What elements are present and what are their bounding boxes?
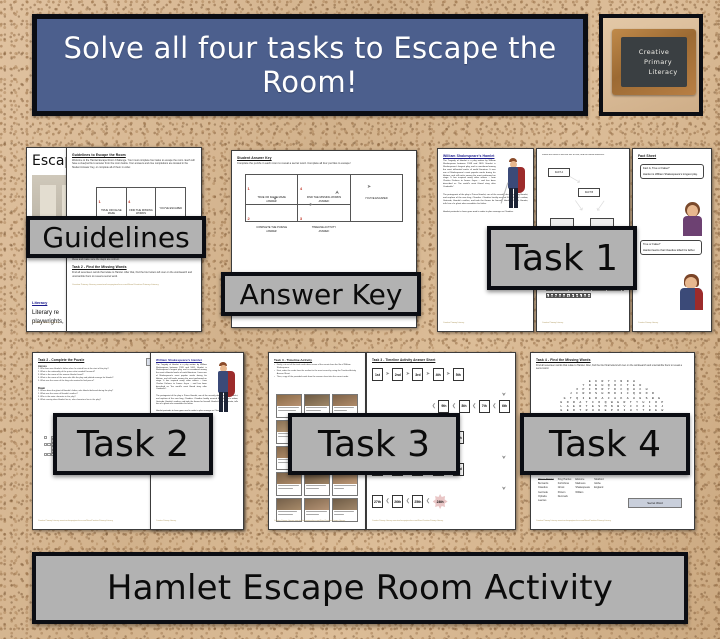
word-column: Stratford Globe England — [594, 478, 604, 502]
final-cell-label: YOU'VE ESCAPED — [365, 197, 388, 200]
maze-node-fact-b[interactable]: FACT B — [578, 188, 600, 197]
arrow-left-icon: ❮ — [472, 404, 476, 409]
maze-arrow-icon: ⟶ — [570, 197, 586, 214]
answer-key-cell[interactable]: 4 FIND THE MISSING WORDS ANSWER: — [298, 175, 349, 205]
logo-line-1: Creative — [621, 47, 687, 57]
cell-number: 2 — [248, 216, 250, 221]
task4-intro: Find all seventeen words that relate to … — [536, 364, 689, 371]
maze-node-fact-a[interactable]: FACT A — [548, 168, 570, 177]
word: Prince Hamlet — [538, 478, 554, 481]
arrow-right-icon: ➤ — [406, 372, 410, 377]
header-title: Solve all four tasks to Escape the Room! — [37, 31, 583, 99]
bubble-question: Fact A, True or False? — [643, 167, 701, 171]
cell-answer: ANSWER: — [248, 201, 296, 203]
timeline-box[interactable]: 1st — [372, 368, 383, 381]
label-task1-text: Task 1 — [506, 238, 618, 279]
maze-arrow-icon: ⟶ — [592, 197, 608, 214]
timeline-box[interactable]: 7th — [479, 400, 490, 413]
timeline-box[interactable]: 3rd — [412, 368, 423, 381]
logo-line-2: Primary — [617, 57, 691, 67]
word: William — [575, 491, 590, 494]
arrow-left-icon: ❮ — [492, 404, 496, 409]
arrow-left-icon: ❮ — [406, 499, 410, 504]
footer-banner: Hamlet Escape Room Activity — [32, 552, 688, 624]
word: Shakespeare — [575, 486, 590, 489]
word: Madness — [575, 482, 590, 485]
word: Ghost — [558, 486, 572, 489]
word-column: King Hamlet Fortinbras Ghost Poison Denm… — [558, 478, 572, 502]
task2-footer: Creative Primary Literacy www.teacherspa… — [38, 520, 113, 522]
timeline-box[interactable]: 9th — [438, 400, 449, 413]
timeline-card[interactable] — [332, 472, 358, 496]
cover-footer: © Creative Primary Literacy — [32, 322, 59, 324]
timeline-card[interactable] — [332, 498, 358, 522]
arrow-up-icon: ⮝ — [335, 190, 339, 196]
timeline-card[interactable] — [304, 472, 330, 496]
cell-task: COMPLETE THE PUZZLE — [248, 226, 296, 229]
task4-title: Task 4 - Find the Missing Words — [536, 358, 689, 362]
person-illustration-male — [679, 274, 703, 310]
label-answer-key: Answer Key — [221, 272, 421, 316]
word: Gertrude — [538, 491, 554, 494]
fact-bubble-1: Fact A, True or False? Hamlet is William… — [640, 164, 704, 179]
timeline-row: 27th❮ 26th❮ 25th❮ 24th — [372, 494, 510, 509]
label-guidelines: Guidelines — [26, 216, 206, 258]
timeline-card[interactable] — [276, 498, 302, 522]
label-task3: Task 3 — [288, 413, 460, 475]
label-task1: Task 1 — [487, 226, 637, 290]
task2-across-clues: 1. Who from was Hamlet's father when he … — [38, 368, 154, 383]
timeline-box[interactable]: 25th — [412, 495, 423, 508]
timeline-box[interactable]: 5th — [453, 368, 464, 381]
label-task2: Task 2 — [53, 413, 213, 475]
cell-answer: ANSWER: — [300, 201, 348, 203]
guidelines-section2-text: Find all seventeen words that relate to … — [72, 271, 196, 278]
arrow-right-icon: ➤ — [426, 372, 430, 377]
word: Denmark — [558, 495, 572, 498]
label-task4: Task 4 — [520, 413, 690, 475]
instruction: Then, copy all the provided cards from t… — [277, 376, 349, 379]
guidelines-title: Guidelines to Escape the Room — [72, 153, 196, 157]
task2-info-footer: Creative Primary Literacy — [156, 520, 176, 522]
arrow-down-icon: ⮟ — [502, 455, 506, 461]
guidelines-footer: Creative Primary Literacy www.teacherspa… — [72, 284, 196, 286]
answer-letter: Y — [587, 293, 591, 298]
cell-number: 4 — [300, 186, 302, 191]
factsheet-footer: Creative Primary Literacy — [638, 322, 658, 324]
cell-answer: ANSWER: — [248, 231, 296, 233]
word-column: Elsinore Madness Shakespeare William — [575, 478, 590, 502]
word-column: Prince Hamlet Bernardo Claudius Gertrude… — [538, 478, 554, 502]
arrow-down-icon: ⮟ — [502, 392, 506, 398]
label-task3-text: Task 3 — [318, 424, 430, 465]
answer-key-intro: Complete the puzzle in each room to reve… — [237, 162, 411, 166]
task1-info-footer: Creative Primary Literacy — [443, 322, 464, 324]
arrow-down-icon: ⮟ — [502, 486, 506, 492]
timeline-row: ❮ 9th❮ 8th❮ 7th❮ 6th — [372, 400, 510, 413]
cell-number: 3 — [300, 216, 302, 221]
word: Globe — [594, 482, 604, 485]
timeline-box[interactable]: 4th — [433, 368, 444, 381]
word: Laertes — [538, 499, 554, 502]
footer-title: Hamlet Escape Room Activity — [107, 568, 613, 608]
cell-task: FIND THE MISSING WORDS — [300, 196, 348, 199]
cell-task: TIMELINE ACTIVITY — [300, 226, 348, 229]
word: Ophelia — [538, 495, 554, 498]
task3-answer-footer: Creative Primary Literacy www.teacherspa… — [372, 520, 443, 522]
arrow-left-icon: ❮ — [452, 404, 456, 409]
fact-bubble-2: True or False? Hamlet learns that Claudi… — [640, 240, 702, 255]
task2-info-paragraph: The Tragedy of Hamlet is a play written … — [156, 364, 207, 391]
timeline-box[interactable]: 2nd — [392, 368, 403, 381]
answer-key-cell[interactable]: 2 COMPLETE THE PUZZLE ANSWER: — [246, 205, 297, 234]
word: Elsinore — [575, 478, 590, 481]
answer-key-cell[interactable]: 3 TIMELINE ACTIVITY ANSWER: — [298, 205, 349, 234]
arrow-left-icon: ❮ — [432, 404, 436, 409]
arrow-right-icon: ➤ — [367, 184, 371, 190]
answer-key-column-2: 4 FIND THE MISSING WORDS ANSWER: 3 TIMEL… — [298, 175, 350, 221]
timeline-final-star[interactable]: 24th — [433, 494, 448, 509]
timeline-card[interactable] — [276, 472, 302, 496]
bubble-statement: Hamlet learns that Claudius killed his f… — [643, 249, 699, 253]
task1-paragraph-1: The Tragedy of Hamlet is a play written … — [443, 160, 496, 189]
guidelines-section2-title: Task 2 - Find the Missing Words — [72, 265, 196, 269]
word: King Hamlet — [558, 478, 572, 481]
answer-key-column-3: YOU'VE ESCAPED — [351, 175, 402, 221]
answer-key-title: Student Answer Key — [237, 156, 411, 160]
hamlet-illustration — [210, 362, 236, 418]
header-banner: Solve all four tasks to Escape the Room! — [32, 14, 588, 116]
word: Bernardo — [538, 482, 554, 485]
word: England — [594, 486, 604, 489]
arrow-right-icon: ➤ — [309, 202, 313, 208]
word: Fortinbras — [558, 482, 572, 485]
task4-footer: Creative Primary Literacy www.teacherspa… — [536, 520, 611, 522]
cell-answer: ANSWER: — [300, 231, 348, 233]
answer-key-grid: 1 TRUE OR FALSE MAZE ANSWER: 2 COMPLETE … — [245, 174, 403, 222]
hamlet-illustration — [500, 158, 526, 214]
task3-cards-footer: Creative Primary Literacy www.teacherspa… — [274, 520, 345, 522]
person-illustration-female — [681, 202, 703, 236]
answer-key-cell[interactable]: 1 TRUE OR FALSE MAZE ANSWER: — [246, 175, 297, 205]
task3-answer-title: Task 3 - Timeline Activity Answer Sheet — [372, 358, 510, 362]
logo-line-3: Literacy — [612, 67, 696, 77]
timeline-box[interactable]: 27th — [372, 495, 383, 508]
arrow-left-icon: ❮ — [426, 499, 430, 504]
task4-secret-word-button[interactable]: Secret Word — [628, 498, 682, 508]
arrow-right-icon: ➤ — [386, 372, 390, 377]
secret-word-label: Secret Word — [647, 501, 663, 505]
cell-number: 1 — [248, 186, 250, 191]
label-answer-key-text: Answer Key — [240, 278, 403, 311]
bubble-statement: Hamlet is William Shakespeare's longest … — [643, 173, 701, 177]
sheet-task1-factsheet[interactable]: Fact Sheet Fact A, True or False? Hamlet… — [632, 148, 712, 332]
clue: 4. What country does Hamlet live in, who… — [38, 399, 154, 402]
arrow-right-icon: ➤ — [446, 372, 450, 377]
factsheet-title: Fact Sheet — [638, 154, 706, 158]
word: Stratford — [594, 478, 604, 481]
timeline-box[interactable]: 8th — [459, 400, 470, 413]
label-task2-text: Task 2 — [77, 424, 189, 465]
maze-node-label: FACT B — [585, 191, 593, 194]
brand-logo: Creative Primary Literacy — [599, 14, 703, 116]
cell-task: TRUE OR FALSE MAZE — [248, 196, 296, 199]
guidelines-intro: Welcome to the Hamlet Escape Room Challe… — [72, 159, 196, 169]
clue: 5. What was the name of the king who wan… — [38, 380, 154, 383]
chalkboard-frame: Creative Primary Literacy — [612, 29, 696, 95]
arrow-left-icon: ❮ — [386, 499, 390, 504]
bubble-question: True or False? — [643, 243, 699, 247]
label-task4-text: Task 4 — [549, 424, 661, 465]
answer-letters-longestplay: L O N G E S T P L A Y — [546, 293, 591, 298]
timeline-box[interactable]: 26th — [392, 495, 403, 508]
timeline-box[interactable]: 6th — [499, 400, 510, 413]
label-guidelines-text: Guidelines — [42, 221, 189, 254]
chalkboard-slate: Creative Primary Literacy — [621, 37, 687, 87]
task2-down-clues: 1. Where does the ghost of Hamlet's fath… — [38, 390, 154, 402]
word: Poison — [558, 491, 572, 494]
task3-instructions: •Firstly, cut out all the task cards abo… — [274, 364, 360, 379]
task1-maze-footer: Creative Primary Literacy — [542, 322, 563, 324]
cover-subtitle-link[interactable]: Literacy — [32, 300, 47, 305]
answer-key-final-cell: YOU'VE ESCAPED — [351, 175, 402, 221]
arrow-down-icon: ⮟ — [273, 196, 277, 202]
word: Claudius — [538, 486, 554, 489]
timeline-row: 1st➤ 2nd➤ 3rd➤ 4th➤ 5th — [372, 368, 510, 381]
timeline-card[interactable] — [304, 498, 330, 522]
maze-node-label: FACT A — [555, 171, 563, 174]
task3-title: Task 3 - Timeline Activity — [274, 358, 360, 362]
task1-maze-instructions: Follow the maze to find the fact or true… — [542, 154, 624, 157]
